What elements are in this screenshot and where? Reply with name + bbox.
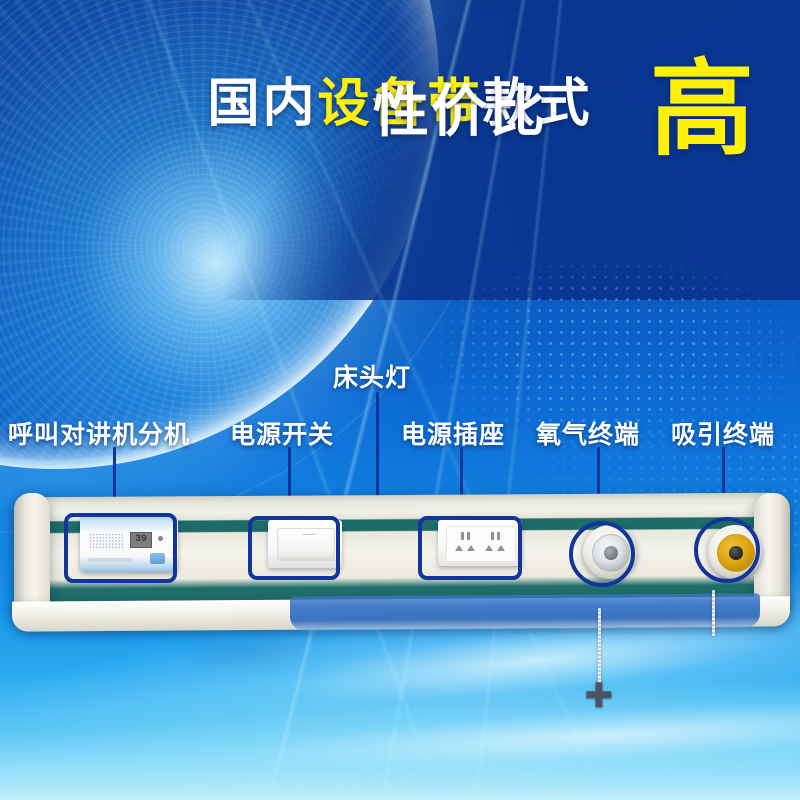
- headline-emphasis-char: 高: [650, 58, 754, 162]
- callout-label-oxygen-terminal: 氧气终端: [536, 415, 640, 451]
- highlight-box-power-socket: [418, 516, 522, 580]
- promo-banner: 国内设备带款式 性价比 高 呼叫对讲机分机 电源开关 床头灯 电源插座 氧气终端…: [0, 0, 800, 800]
- panel-end-cap-left: [14, 493, 50, 617]
- callout-label-suction-terminal: 吸引终端: [671, 415, 775, 451]
- callout-label-power-switch: 电源开关: [230, 415, 334, 451]
- callout-label-intercom: 呼叫对讲机分机: [8, 415, 190, 451]
- panel-light-strip: [290, 593, 760, 630]
- highlight-circle-suction: [694, 517, 760, 583]
- highlight-circle-oxygen: [569, 521, 635, 587]
- callout-label-power-socket: 电源插座: [401, 415, 505, 451]
- pull-cord-secondary[interactable]: [712, 590, 715, 636]
- cross-handle-icon[interactable]: ✚: [583, 682, 615, 712]
- headline-line-2-block: 性价比 高: [0, 80, 800, 190]
- headline-line-2: 性价比: [373, 84, 547, 140]
- highlight-box-intercom: [64, 513, 177, 583]
- highlight-box-power-switch: [248, 516, 340, 580]
- callout-label-bed-lamp: 床头灯: [333, 358, 411, 394]
